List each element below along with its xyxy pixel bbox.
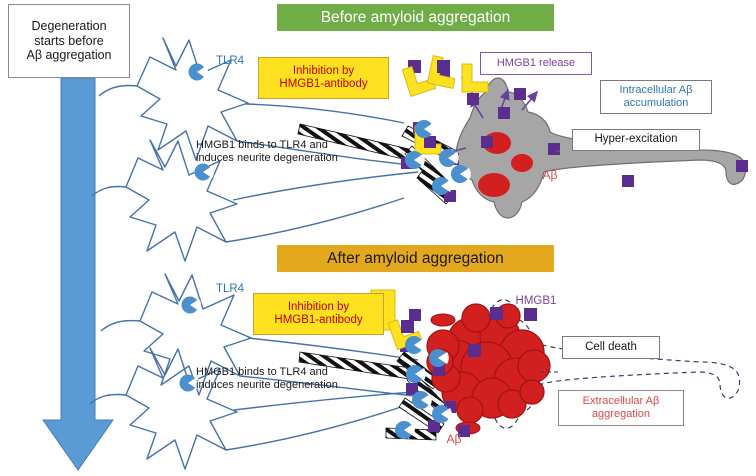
degeneration-title-line3: Aβ aggregation — [26, 48, 111, 62]
hmgb1-binds-text-bottom: HMGB1 binds to TLR4 and induces neurite … — [196, 363, 388, 395]
hmgb1-binds-top-line2: induces neurite degeneration — [196, 152, 338, 165]
hyper-excitation-box: Hyper-excitation — [572, 129, 700, 151]
tlr4-receptor-icon — [189, 64, 209, 81]
hyper-excitation-label: Hyper-excitation — [594, 133, 677, 146]
banner-after-amyloid-label: After amyloid aggregation — [327, 250, 504, 268]
figure-canvas: Degeneration starts before Aβ aggregatio… — [0, 0, 756, 476]
hmgb1-label-bottom: HMGB1 — [508, 294, 564, 310]
intracellular-abeta-line2: accumulation — [624, 97, 689, 110]
tlr4-label-bottom: TLR4 — [207, 282, 253, 298]
cell-death-label: Cell death — [585, 341, 637, 354]
banner-before-amyloid-label: Before amyloid aggregation — [321, 9, 511, 27]
extracellular-abeta-line2: aggregation — [592, 408, 650, 421]
extracellular-abeta-line1: Extracellular Aβ — [583, 395, 660, 408]
intracellular-abeta-box: Intracellular Aβ accumulation — [600, 80, 712, 114]
inhibition-bottom-line1: Inhibition by — [288, 301, 349, 314]
abeta-label-top-text: Aβ — [543, 169, 558, 183]
hmgb1-binds-bottom-line2: induces neurite degeneration — [196, 379, 338, 392]
hmgb1-binds-bottom-line1: HMGB1 binds to TLR4 and — [196, 366, 328, 379]
red-amyloid-icon — [511, 154, 533, 172]
tlr4-label-top-text: TLR4 — [216, 55, 244, 68]
intracellular-abeta-line1: Intracellular Aβ — [620, 84, 693, 97]
inhibition-top-line1: Inhibition by — [293, 65, 354, 78]
degeneration-title-line1: Degeneration — [31, 19, 106, 33]
hmgb1-binds-text-top: HMGB1 binds to TLR4 and induces neurite … — [196, 136, 388, 168]
inhibition-box-bottom: Inhibition by HMGB1-antibody — [253, 293, 384, 335]
red-amyloid-icon — [478, 173, 510, 197]
hmgb1-release-label: HMGB1 release — [497, 57, 575, 70]
inhibition-top-line2: HMGB1-antibody — [279, 78, 367, 91]
antibody-bound-hmgb1-bottom — [401, 320, 414, 333]
banner-after-amyloid: After amyloid aggregation — [277, 245, 554, 272]
banner-before-amyloid: Before amyloid aggregation — [277, 4, 554, 31]
hmgb1-release-box: HMGB1 release — [480, 52, 592, 75]
tlr4-label-bottom-text: TLR4 — [216, 283, 244, 296]
abeta-label-bottom: Aβ — [440, 432, 468, 448]
inhibition-bottom-line2: HMGB1-antibody — [274, 314, 362, 327]
extracellular-abeta-box: Extracellular Aβ aggregation — [558, 390, 684, 426]
degeneration-title-box: Degeneration starts before Aβ aggregatio… — [8, 4, 130, 78]
cell-death-box: Cell death — [562, 336, 660, 359]
inhibition-box-top: Inhibition by HMGB1-antibody — [258, 57, 389, 99]
hmgb1-binds-top-line1: HMGB1 binds to TLR4 and — [196, 139, 328, 152]
hmgb1-label-bottom-text: HMGB1 — [516, 295, 557, 308]
abeta-label-top: Aβ — [536, 168, 564, 184]
tlr4-receptor-icon — [182, 297, 202, 314]
abeta-label-bottom-text: Aβ — [447, 433, 462, 447]
degeneration-title-line2: starts before — [34, 34, 103, 48]
degeneration-down-arrow — [43, 78, 113, 470]
tlr4-label-top: TLR4 — [207, 54, 253, 70]
